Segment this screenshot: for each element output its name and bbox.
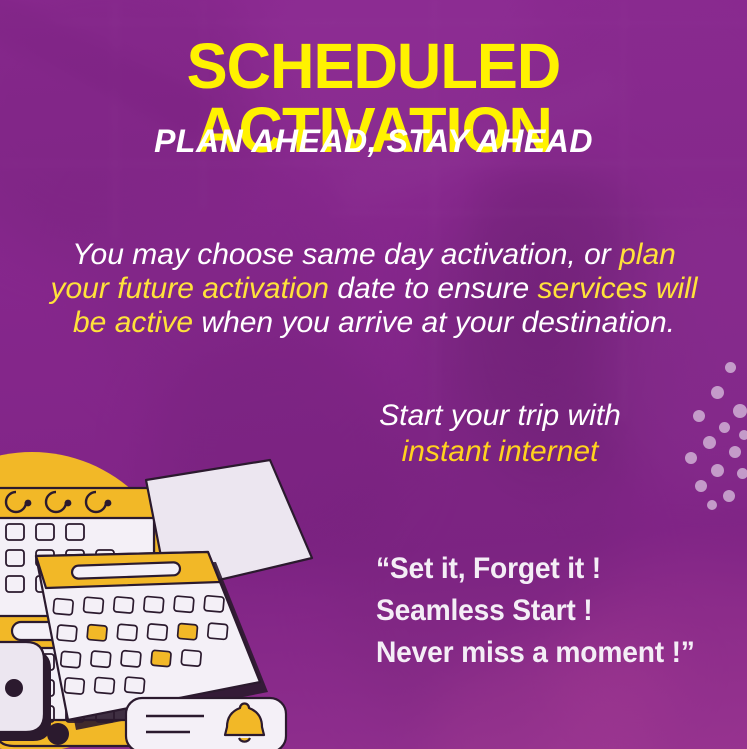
- tagline-line-2: Seamless Start !: [376, 590, 714, 632]
- body-segment-5: when you arrive at your destination.: [193, 306, 675, 339]
- secondary-paragraph: Start your trip with instant internet: [300, 398, 700, 470]
- secondary-line-2-highlight: instant internet: [402, 435, 599, 468]
- body-paragraph: You may choose same day activation, or p…: [44, 238, 704, 340]
- body-segment-3: date to ensure: [329, 272, 537, 305]
- calendar-reminder-illustration: [0, 430, 340, 749]
- promo-poster: SCHEDULED ACTIVATION PLAN AHEAD, STAY AH…: [0, 0, 747, 749]
- tagline-line-3: Never miss a moment !”: [376, 632, 714, 674]
- notification-bar: [126, 698, 286, 749]
- body-segment-1: You may choose same day activation, or: [72, 238, 619, 271]
- tagline-block: “Set it, Forget it ! Seamless Start ! Ne…: [376, 548, 714, 674]
- tagline-line-1: “Set it, Forget it !: [376, 548, 714, 590]
- secondary-line-1: Start your trip with: [379, 399, 621, 432]
- subtitle: PLAN AHEAD, STAY AHEAD: [0, 122, 747, 160]
